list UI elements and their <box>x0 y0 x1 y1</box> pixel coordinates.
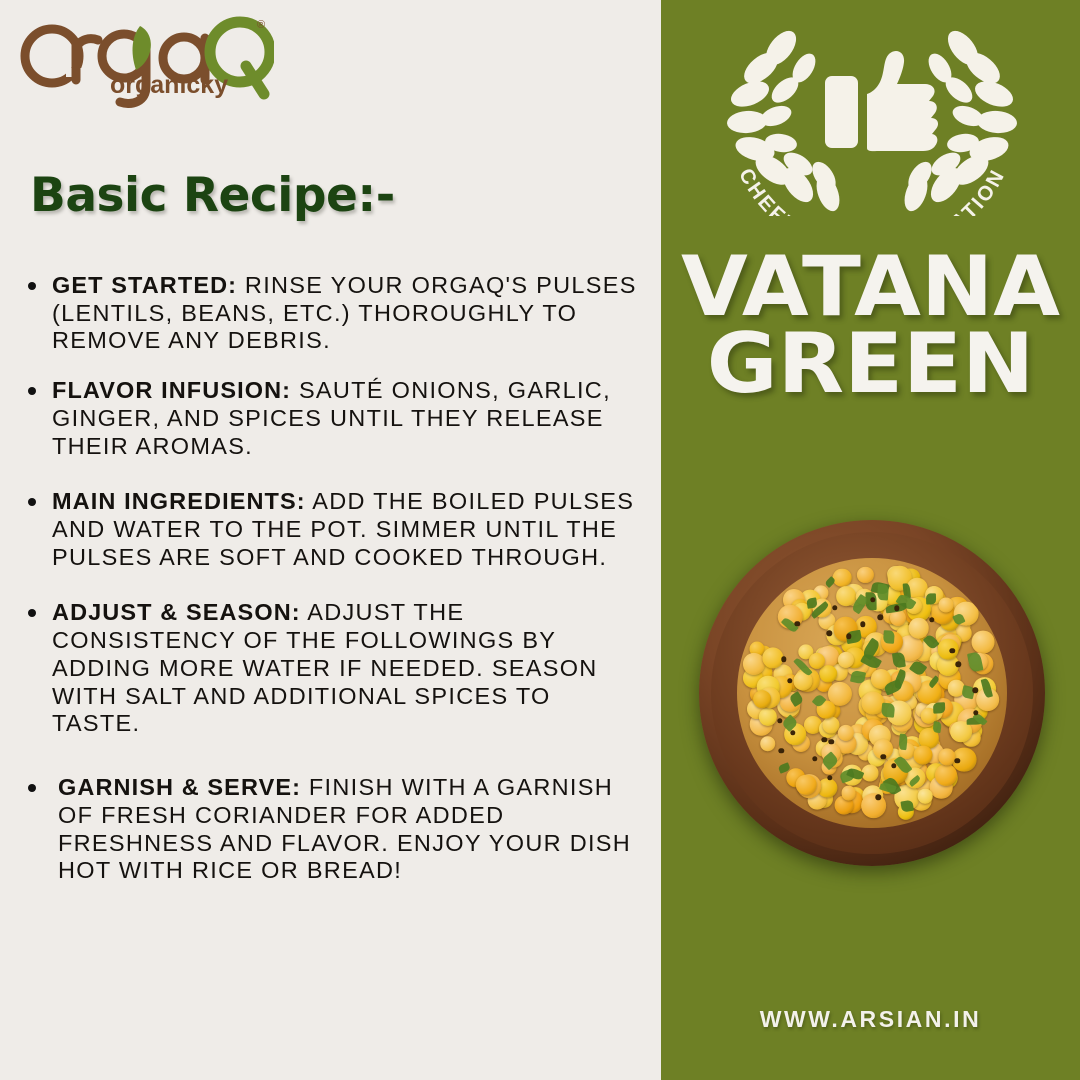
bullet-icon <box>28 784 36 792</box>
mustard-seed <box>929 617 934 622</box>
pea <box>760 736 776 752</box>
pea <box>819 665 837 683</box>
coriander-garnish <box>932 721 942 733</box>
pea <box>841 786 856 801</box>
recipe-step-item: GET STARTED: RINSE YOUR ORGAQ'S PULSES (… <box>22 272 642 355</box>
pea <box>759 708 777 726</box>
chefs-recommendation-badge: CHEF'S RECOMMENDATION <box>697 6 1047 216</box>
mustard-seed <box>955 661 960 666</box>
pea <box>918 789 933 804</box>
bullet-icon <box>28 498 36 506</box>
mustard-seed <box>878 615 883 620</box>
product-title: VATANA GREEN <box>653 248 1080 402</box>
coriander-garnish <box>881 703 895 718</box>
recipe-step-item: GARNISH & SERVE: FINISH WITH A GARNISH O… <box>22 774 642 885</box>
page-title: Basic Recipe:- <box>30 168 395 223</box>
recipe-steps-list: GET STARTED: RINSE YOUR ORGAQ'S PULSES (… <box>22 272 642 906</box>
pea <box>939 597 954 612</box>
mustard-seed <box>832 605 837 610</box>
pea <box>935 764 957 786</box>
step-lead: GET STARTED: <box>52 272 237 298</box>
product-title-line2: GREEN <box>653 325 1080 402</box>
pea <box>972 631 995 654</box>
step-lead: MAIN INGREDIENTS: <box>52 488 306 514</box>
left-content-panel: ® organicky Basic Recipe:- GET STARTED: … <box>0 0 661 1080</box>
step-lead: FLAVOR INFUSION: <box>52 377 291 403</box>
mustard-seed <box>777 718 782 723</box>
pea <box>857 567 873 583</box>
orgaq-logo: ® organicky <box>14 8 274 113</box>
bullet-icon <box>28 387 36 395</box>
pea <box>908 618 929 639</box>
coriander-garnish <box>933 702 945 714</box>
mustard-seed <box>795 621 800 626</box>
thumbs-up-icon <box>825 51 938 151</box>
mustard-seed <box>781 657 786 662</box>
pea <box>796 775 817 796</box>
coriander-garnish <box>877 583 889 600</box>
bullet-icon <box>28 282 36 290</box>
website-url: WWW.ARSIAN.IN <box>661 1006 1080 1033</box>
recipe-step-item: ADJUST & SEASON: ADJUST THE CONSISTENCY … <box>22 599 642 738</box>
bowl-rim <box>711 532 1033 854</box>
recipe-step-item: MAIN INGREDIENTS: ADD THE BOILED PULSES … <box>22 488 642 571</box>
recipe-poster: ® organicky Basic Recipe:- GET STARTED: … <box>0 0 1080 1080</box>
mustard-seed <box>779 748 784 753</box>
pea <box>914 745 933 764</box>
food-photo <box>687 514 1057 894</box>
coriander-garnish <box>883 630 895 644</box>
mustard-seed <box>812 756 817 761</box>
step-lead: GARNISH & SERVE: <box>58 774 301 800</box>
curry-surface <box>737 558 1007 828</box>
recipe-step-item: FLAVOR INFUSION: SAUTÉ ONIONS, GARLIC, G… <box>22 377 642 460</box>
pea <box>938 639 959 660</box>
coriander-garnish <box>925 594 935 605</box>
logo-subtitle: organicky <box>110 71 228 99</box>
right-green-panel: CHEF'S RECOMMENDATION VATANA GREEN WWW.A… <box>661 0 1080 1080</box>
pea <box>833 568 852 587</box>
wooden-bowl <box>699 520 1045 866</box>
registered-mark: ® <box>257 19 265 31</box>
pea <box>861 793 887 819</box>
step-lead: ADJUST & SEASON: <box>52 599 301 625</box>
bullet-icon <box>28 609 36 617</box>
pea <box>753 690 771 708</box>
